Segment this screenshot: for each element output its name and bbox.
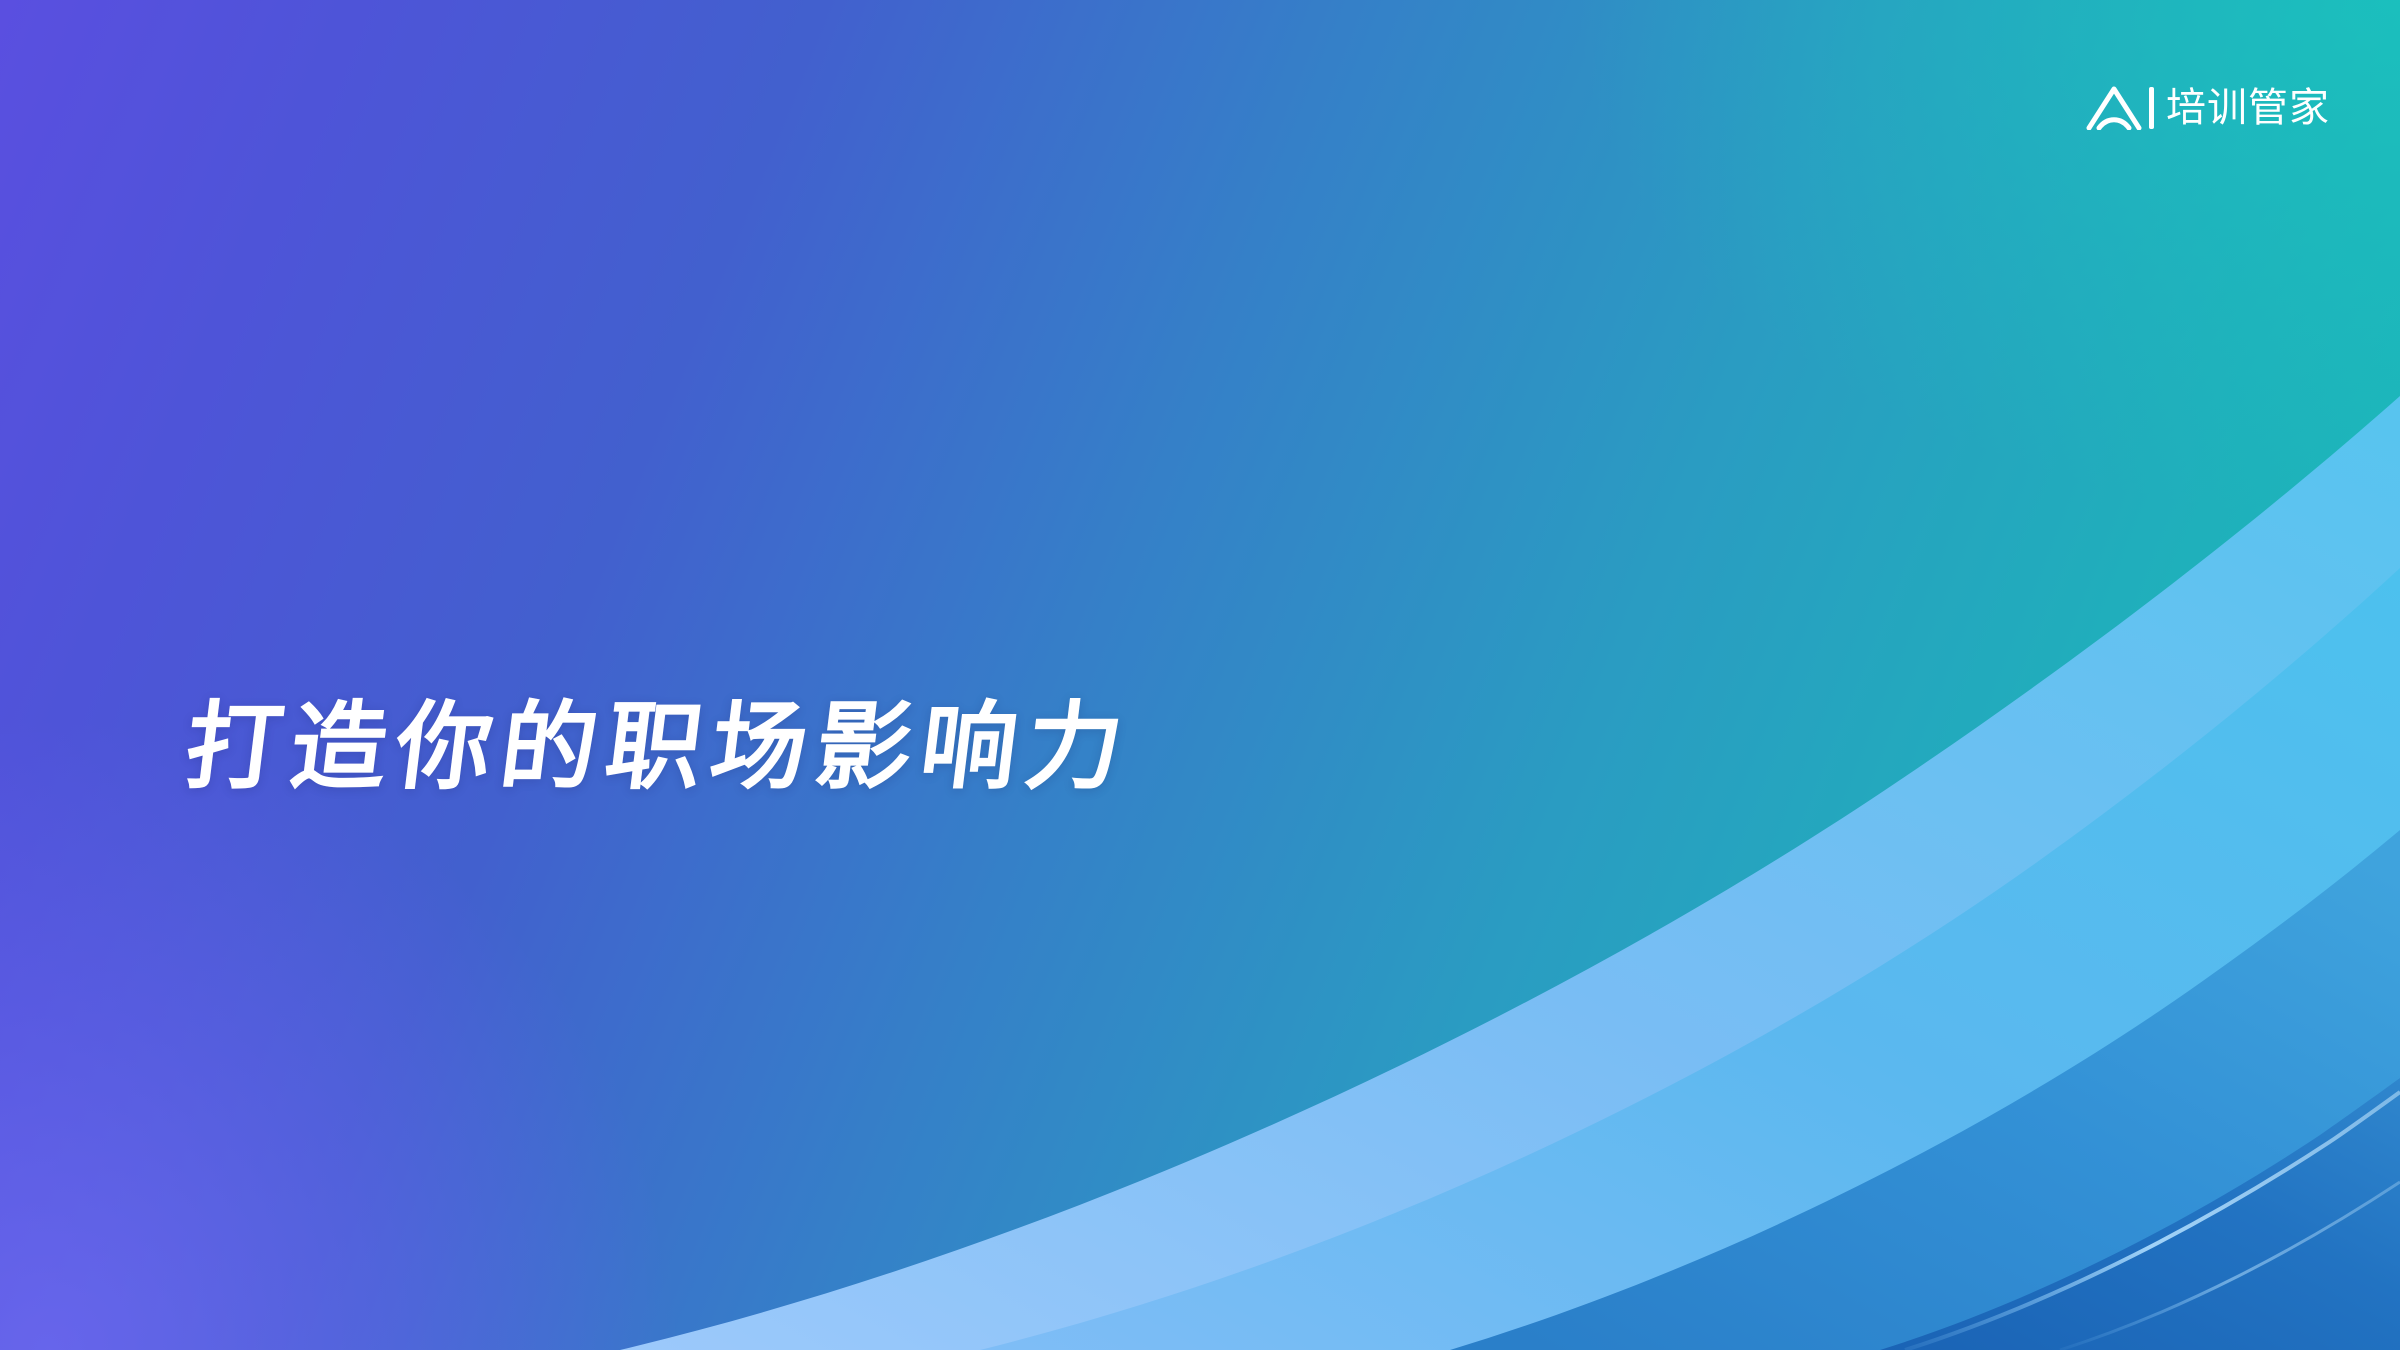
ai-triangle-icon: [2085, 86, 2147, 130]
logo-text: 培训管家: [2166, 88, 2330, 128]
page-title: 打造你的职场影响力: [180, 698, 1137, 799]
decorative-ribbons: [0, 0, 2400, 1350]
logo-divider-icon: [2149, 87, 2154, 129]
brand-logo: 培训管家: [2085, 82, 2330, 134]
slide-canvas: 打造你的职场影响力 培训管家: [0, 0, 2400, 1350]
